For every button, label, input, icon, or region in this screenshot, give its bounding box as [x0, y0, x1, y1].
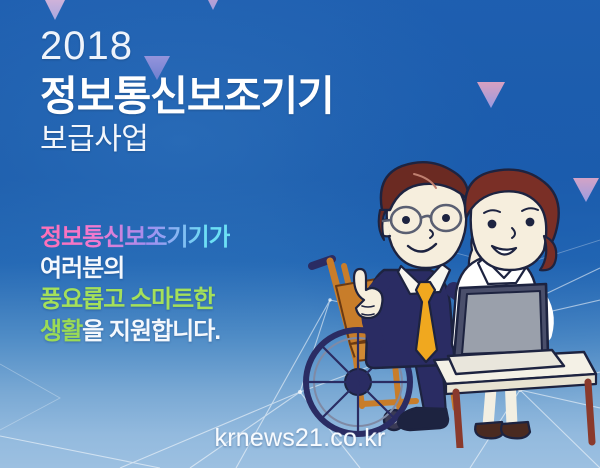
- copy-line-1: 정보통신보조기기가: [40, 222, 230, 253]
- headline-subtitle: 보급사업: [40, 125, 334, 155]
- headline-block: 2018 정보통신보조기기 보급사업: [40, 26, 334, 155]
- copy-line-2: 여러분의: [40, 253, 230, 284]
- poster-image: 2018 정보통신보조기기 보급사업 정보통신보조기기가 여러분의 풍요롭고 스…: [0, 0, 600, 468]
- copy-line-4: 생활을 지원합니다.: [40, 316, 230, 347]
- headline-title: 정보통신보조기기: [40, 75, 334, 118]
- copy-line-4-accent: 생활: [40, 318, 82, 345]
- headline-year: 2018: [40, 26, 334, 66]
- illustration-man-wheelchair-woman-laptop: [296, 158, 600, 448]
- watermark-text: krnews21.co.kr: [0, 424, 600, 453]
- copy-line-3: 풍요롭고 스마트한: [40, 284, 230, 315]
- copy-block: 정보통신보조기기가 여러분의 풍요롭고 스마트한 생활을 지원합니다.: [40, 222, 230, 347]
- copy-line-4-rest: 을 지원합니다.: [82, 318, 220, 345]
